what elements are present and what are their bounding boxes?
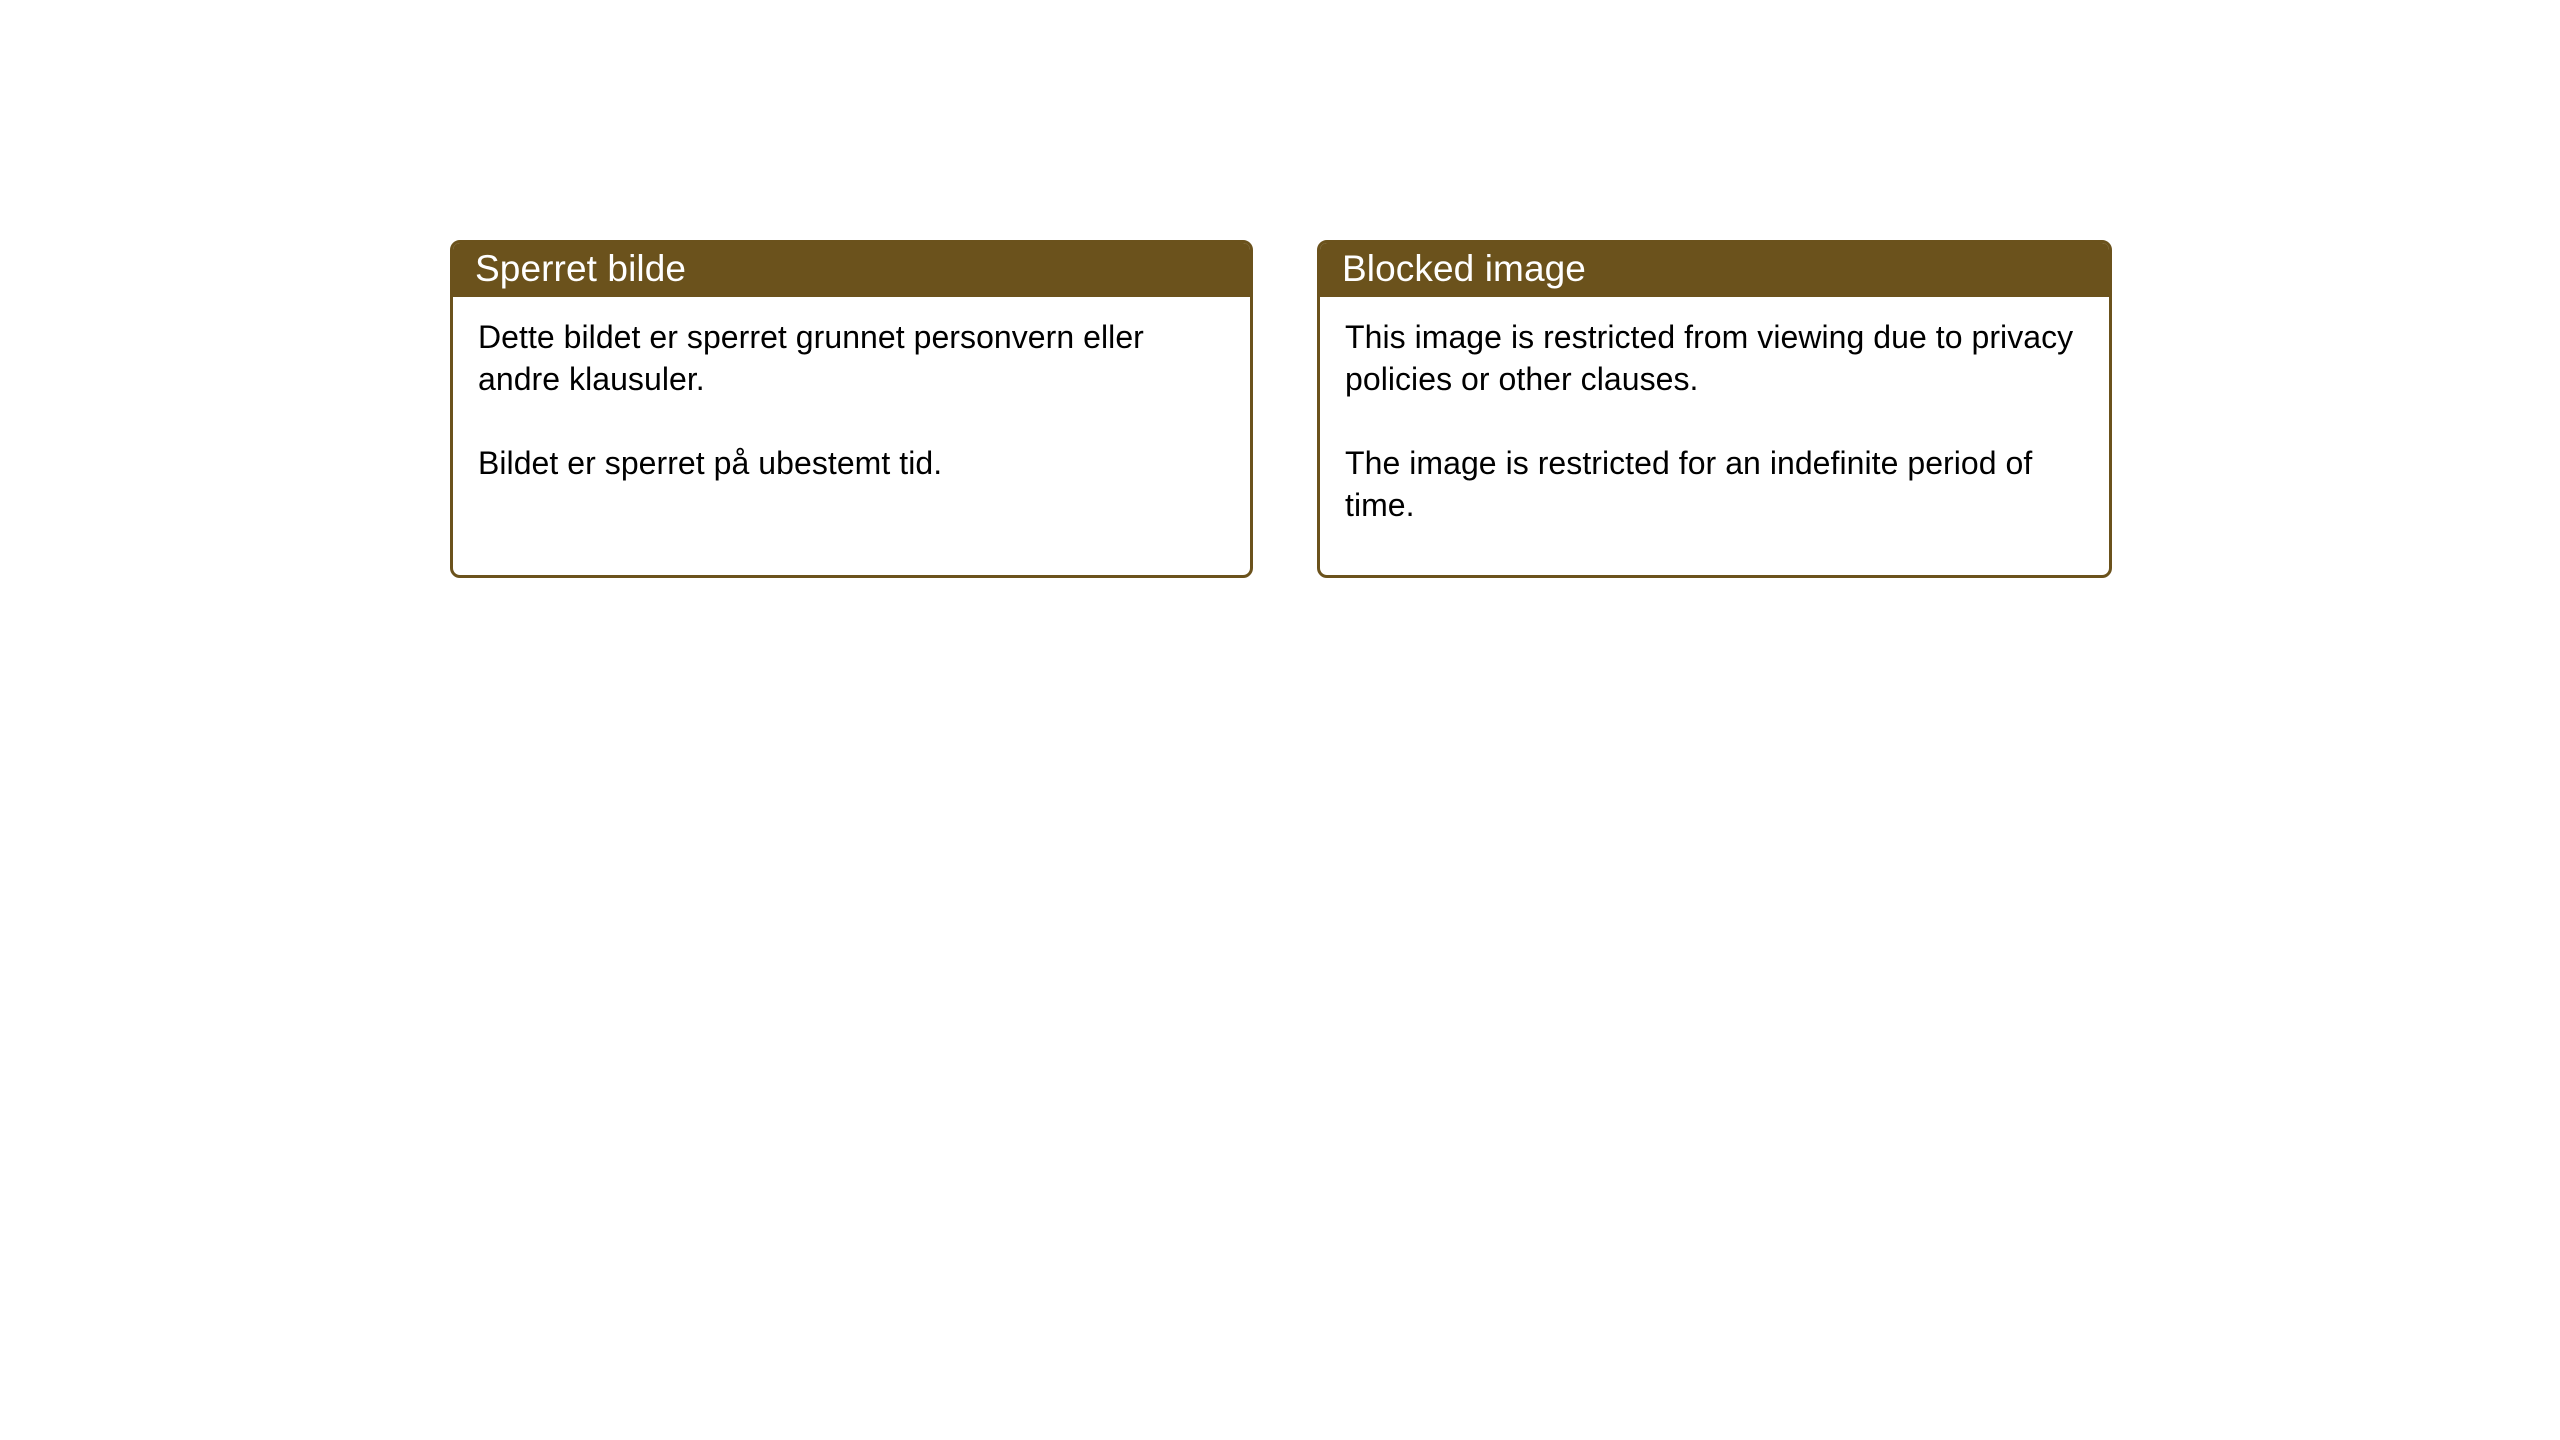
card-paragraph-reason-english: This image is restricted from viewing du… — [1345, 316, 2083, 400]
card-paragraph-duration-english: The image is restricted for an indefinit… — [1345, 442, 2083, 526]
card-body-norwegian: Dette bildet er sperret grunnet personve… — [453, 297, 1250, 484]
card-title-norwegian: Sperret bilde — [475, 250, 686, 287]
blocked-image-notice-card-english: Blocked image This image is restricted f… — [1317, 240, 2112, 578]
card-paragraph-reason-norwegian: Dette bildet er sperret grunnet personve… — [478, 316, 1224, 400]
page-canvas: Sperret bilde Dette bildet er sperret gr… — [0, 0, 2560, 1440]
card-title-english: Blocked image — [1342, 250, 1586, 287]
card-header-norwegian: Sperret bilde — [450, 240, 1253, 297]
blocked-image-notice-card-norwegian: Sperret bilde Dette bildet er sperret gr… — [450, 240, 1253, 578]
card-header-english: Blocked image — [1317, 240, 2112, 297]
card-body-english: This image is restricted from viewing du… — [1320, 297, 2109, 526]
card-paragraph-duration-norwegian: Bildet er sperret på ubestemt tid. — [478, 442, 1224, 484]
